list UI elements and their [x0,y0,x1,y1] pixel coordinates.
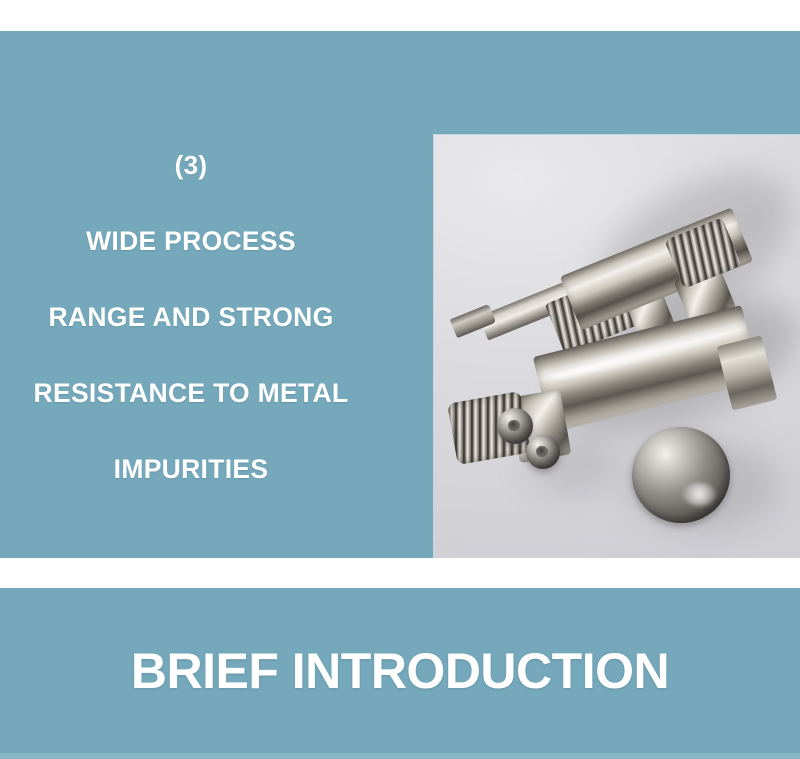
feature-panel: (3) WIDE PROCESS RANGE AND STRONG RESIST… [0,31,800,558]
ball-dimple [536,446,548,457]
feature-line-4: IMPURITIES [0,431,382,507]
steel-ball-large [632,427,730,523]
feature-text-block: (3) WIDE PROCESS RANGE AND STRONG RESIST… [0,127,382,507]
ball-highlight [683,483,716,506]
steel-ball-small [526,435,560,469]
panel-separator [0,558,800,588]
feature-line-2: RANGE AND STRONG [0,279,382,355]
feature-line-number: (3) [0,127,382,203]
feature-line-3: RESISTANCE TO METAL [0,355,382,431]
page-title: BRIEF INTRODUCTION [131,642,669,700]
bottom-strip [0,753,800,759]
ball-dimple [508,420,520,432]
product-photo [434,135,800,572]
feature-line-1: WIDE PROCESS [0,203,382,279]
banner-panel: BRIEF INTRODUCTION [0,588,800,753]
steel-ball-small [497,408,533,444]
